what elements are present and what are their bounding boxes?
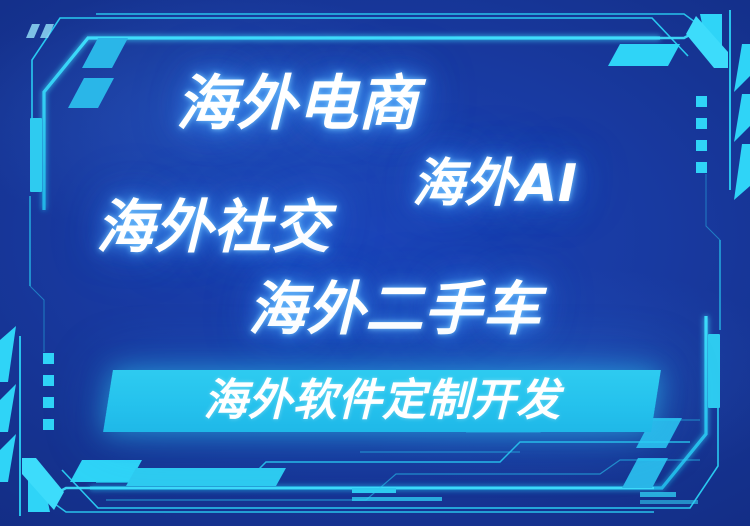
headline-overseas-ai: 海外AI: [412, 158, 578, 210]
headline-overseas-social: 海外社交: [96, 198, 330, 256]
poster-canvas: 海外电商 海外AI 海外社交 海外二手车 海外软件定制开发: [0, 0, 750, 526]
banner-software-customization: 海外软件定制开发: [103, 370, 661, 432]
banner-label: 海外软件定制开发: [108, 370, 656, 432]
headline-overseas-used-car: 海外二手车: [248, 280, 541, 338]
headline-overseas-ecommerce: 海外电商: [176, 74, 418, 134]
headline-stack: 海外电商 海外AI 海外社交 海外二手车: [0, 0, 750, 526]
